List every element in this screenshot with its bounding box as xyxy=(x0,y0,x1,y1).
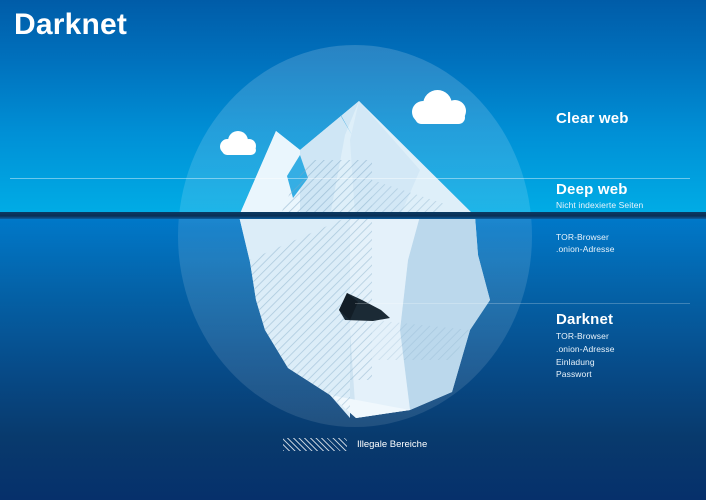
label-darknet: Darknet xyxy=(556,311,613,328)
cloud-large-icon xyxy=(412,90,470,127)
label-darknet-line3: Einladung xyxy=(556,356,595,369)
label-darknet-line4: Passwort xyxy=(556,368,592,381)
label-darknet-line2: .onion-Adresse xyxy=(556,343,615,356)
label-deep-web: Deep web xyxy=(556,181,628,198)
iceberg-body xyxy=(239,216,490,418)
legend-hatch-swatch-icon xyxy=(283,438,347,451)
legend: Illegale Bereiche xyxy=(283,438,427,451)
legend-label: Illegale Bereiche xyxy=(357,439,427,450)
label-deep-web-sub: Nicht indexierte Seiten xyxy=(556,199,643,212)
infographic-canvas: Darknet Clear web Deep web Nicht indexie… xyxy=(0,0,706,500)
body-right-slab xyxy=(400,216,490,410)
divider-clear-deep xyxy=(10,178,690,179)
label-deep-req-line2: .onion-Adresse xyxy=(556,243,615,256)
divider-deep-darknet xyxy=(355,303,690,304)
page-title: Darknet xyxy=(14,8,127,42)
label-deep-req-line1: TOR-Browser xyxy=(556,231,609,244)
label-clear-web: Clear web xyxy=(556,110,629,127)
cloud-small-icon xyxy=(220,131,260,157)
label-darknet-line1: TOR-Browser xyxy=(556,330,609,343)
waterline-band xyxy=(0,212,706,219)
